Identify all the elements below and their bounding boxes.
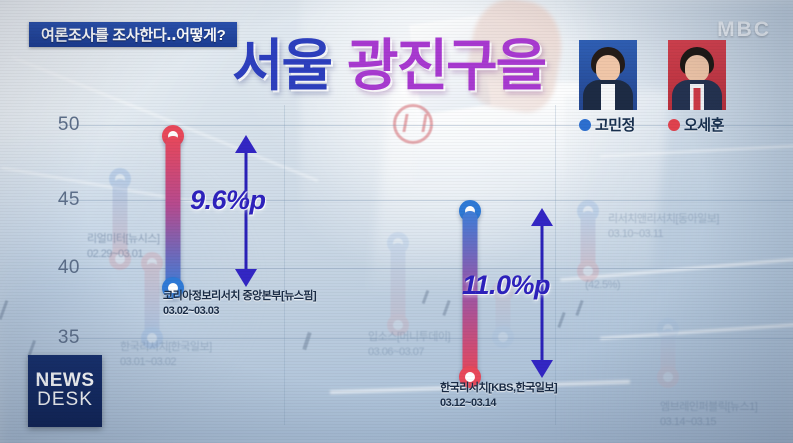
- candidate-1-nameplate: 고민정: [579, 114, 637, 135]
- ghost-poll-label: 한국리서치[한국일보]03.01~03.02: [120, 340, 212, 370]
- ghost-poll-label: 엠브레인퍼블릭[뉴스1]03.14~03.15: [660, 400, 757, 430]
- newsdesk-logo: NEWS DESK: [28, 355, 102, 427]
- arrow-head-up-icon: [531, 208, 553, 226]
- y-axis-tick-label: 50: [34, 114, 80, 136]
- title-region: 서울: [232, 38, 331, 94]
- gridline-vertical: [284, 105, 285, 425]
- y-axis-tick-label: 40: [34, 257, 80, 279]
- face-shape: [685, 55, 709, 82]
- ghost-poll-label: 리서치앤리서치[동아일보]03.10~03.11: [608, 212, 719, 242]
- y-axis-tick-label: 35: [34, 327, 80, 349]
- candidate-2-name: 오세훈: [684, 114, 724, 135]
- red-dot-icon: [668, 119, 680, 131]
- poll2-period: 03.12~03.14: [440, 397, 496, 409]
- arrow-head-down-icon: [235, 269, 257, 287]
- page-title: 서울 광진구을: [232, 38, 545, 94]
- gridline-vertical: [555, 105, 556, 425]
- background-streak: [302, 332, 311, 350]
- background-streak: [422, 290, 430, 304]
- candidate-card-2[interactable]: 오세훈: [668, 40, 726, 135]
- poll1-bar: [166, 136, 181, 288]
- arrow-head-down-icon: [531, 360, 553, 378]
- blue-dot-icon: [579, 119, 591, 131]
- poll-label-2: 한국리서치[KBS,한국일보] 03.12~03.14: [440, 381, 557, 411]
- headline-text: 여론조사를 조사한다‥어떻게?: [41, 24, 225, 45]
- vote-stamp-icon: [393, 104, 433, 144]
- newsdesk-line2: DESK: [37, 390, 93, 411]
- ghost-knob-red: [657, 366, 679, 388]
- y-axis-tick-label: 45: [34, 189, 80, 211]
- ghost-poll-value: (42.5%): [585, 278, 620, 293]
- arrow-head-up-icon: [235, 135, 257, 153]
- ghost-bar: [391, 243, 406, 325]
- background-streak: [442, 300, 450, 316]
- newsdesk-line1: NEWS: [36, 371, 95, 390]
- candidate-1-avatar: [579, 40, 637, 110]
- candidate-card-1[interactable]: 고민정: [579, 40, 637, 135]
- background-streak: [557, 312, 565, 328]
- poll2-pollster: 한국리서치[KBS,한국일보]: [440, 382, 557, 394]
- tie-shape: [694, 88, 701, 110]
- broadcast-screen: 50 45 40 35 리얼미터[뉴시스]02.29~03.01 한국리서치[한…: [0, 0, 793, 443]
- shirt-shape: [601, 84, 615, 110]
- ghost-knob-blue: [492, 326, 514, 348]
- title-district: 광진구을: [347, 38, 545, 94]
- poll-label-1: 코리아정보리서치 중앙본부[뉴스핌] 03.02~03.03: [163, 289, 316, 319]
- headline-banner: 여론조사를 조사한다‥어떻게?: [29, 22, 237, 47]
- candidate-2-avatar: [668, 40, 726, 110]
- poll1-period: 03.02~03.03: [163, 305, 219, 317]
- candidate-2-nameplate: 오세훈: [668, 114, 726, 135]
- background-streak: [575, 300, 583, 316]
- background-streak: [600, 145, 793, 157]
- background-streak: [0, 300, 8, 320]
- poll1-pollster: 코리아정보리서치 중앙본부[뉴스핌]: [163, 290, 316, 302]
- gap-value-2: 11.0%p: [462, 270, 550, 301]
- gap-value-1: 9.6%p: [190, 185, 266, 216]
- ghost-poll-label: 입소스[머니투데이]03.06~03.07: [368, 330, 450, 360]
- mbc-logo: MBC: [717, 18, 771, 42]
- face-shape: [596, 55, 620, 82]
- candidate-1-name: 고민정: [595, 114, 635, 135]
